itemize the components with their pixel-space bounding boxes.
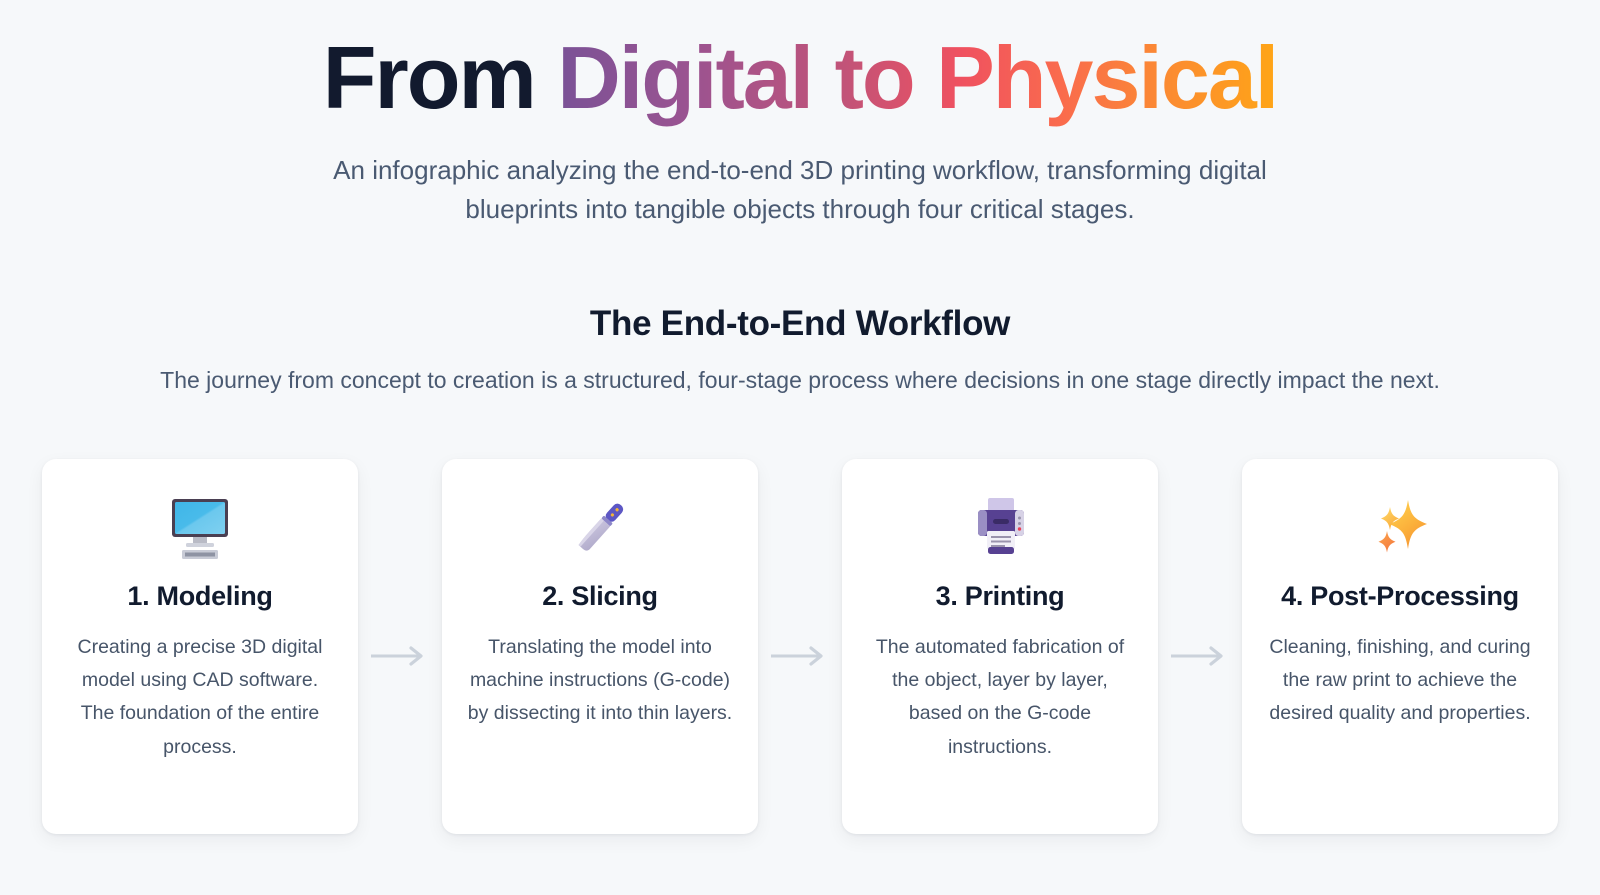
infographic-page: From Digital to Physical An infographic …: [0, 0, 1600, 895]
arrow-right-icon: [1158, 459, 1242, 834]
workflow-card-title: 2. Slicing: [464, 579, 736, 615]
workflow-card-body: Cleaning, finishing, and curing the raw …: [1264, 631, 1536, 731]
workflow-card-body: Creating a precise 3D digital model usin…: [64, 631, 336, 764]
workflow-steps-row: 1. Modeling Creating a precise 3D digita…: [0, 459, 1600, 834]
page-title: From Digital to Physical: [0, 30, 1600, 125]
workflow-card-title: 1. Modeling: [64, 579, 336, 615]
workflow-section-header: The End-to-End Workflow The journey from…: [0, 304, 1600, 396]
workflow-card-body: The automated fabrication of the object,…: [864, 631, 1136, 764]
sparkles-icon: [1264, 491, 1536, 565]
page-title-gradient: Digital to Physical: [557, 28, 1277, 127]
workflow-card-title: 4. Post-Processing: [1264, 579, 1536, 615]
desktop-computer-icon: [64, 491, 336, 565]
hero-header: From Digital to Physical An infographic …: [0, 0, 1600, 228]
workflow-card-body: Translating the model into machine instr…: [464, 631, 736, 731]
section-title: The End-to-End Workflow: [0, 304, 1600, 344]
kitchen-knife-icon: [464, 491, 736, 565]
workflow-card-slicing[interactable]: 2. Slicing Translating the model into ma…: [442, 459, 758, 834]
arrow-right-icon: [758, 459, 842, 834]
section-description: The journey from concept to creation is …: [0, 364, 1600, 396]
workflow-card-post-processing[interactable]: 4. Post-Processing Cleaning, finishing, …: [1242, 459, 1558, 834]
page-subtitle: An infographic analyzing the end-to-end …: [295, 151, 1305, 228]
workflow-card-title: 3. Printing: [864, 579, 1136, 615]
page-title-plain: From: [323, 28, 557, 127]
printer-icon: [864, 491, 1136, 565]
workflow-card-modeling[interactable]: 1. Modeling Creating a precise 3D digita…: [42, 459, 358, 834]
arrow-right-icon: [358, 459, 442, 834]
workflow-card-printing[interactable]: 3. Printing The automated fabrication of…: [842, 459, 1158, 834]
